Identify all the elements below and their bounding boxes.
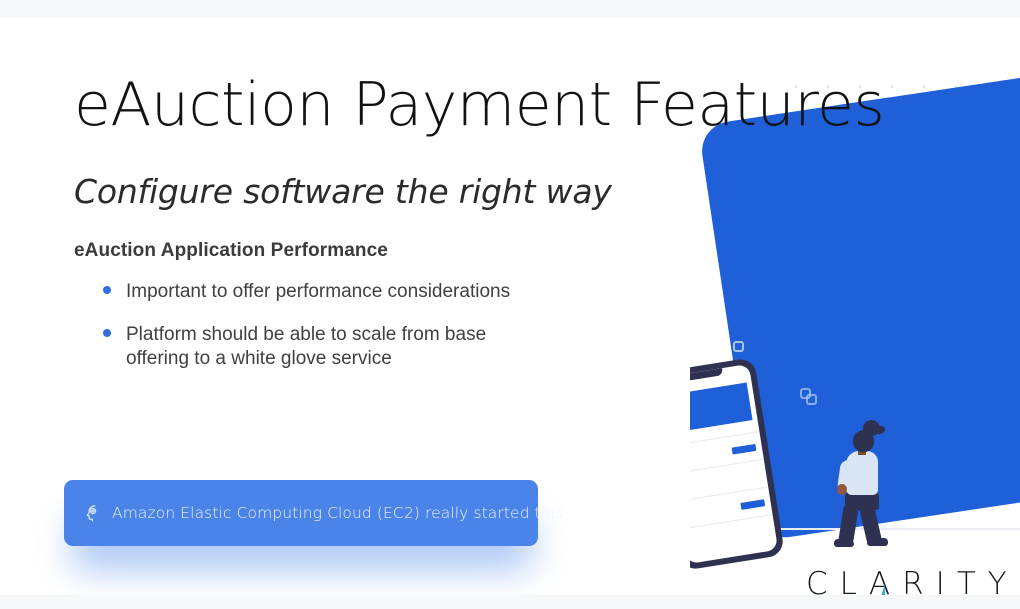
callout-text: Amazon Elastic Computing Cloud (EC2) rea…: [112, 504, 563, 522]
list-item: Important to offer performance considera…: [98, 280, 538, 304]
viewer-bottom-bar: [0, 595, 1020, 609]
list-item: Platform should be able to scale from ba…: [98, 323, 538, 371]
section-heading: eAuction Application Performance: [74, 240, 388, 262]
slide-subtitle: Configure software the right way: [74, 172, 612, 211]
list-item-text: Important to offer performance considera…: [126, 281, 510, 302]
logo-letter-a-text: A: [869, 566, 902, 595]
square-outline-icon: [733, 341, 744, 352]
bullet-dot-icon: [103, 329, 111, 337]
walking-woman-illustration: [832, 420, 902, 548]
logo-text-part2: RITY: [902, 569, 1019, 595]
slide-title: eAuction Payment Features: [74, 74, 884, 137]
screenshot-root: eAuction Payment Features Configure soft…: [0, 0, 1020, 609]
bullet-dot-icon: [103, 286, 111, 294]
logo-text-part1: CL: [806, 569, 869, 595]
slide-canvas: eAuction Payment Features Configure soft…: [0, 18, 1020, 595]
list-item-text: Platform should be able to scale from ba…: [126, 324, 486, 369]
viewer-top-bar: [0, 0, 1020, 18]
logo-accent-triangle: [880, 584, 885, 595]
logo-letter-a: A: [869, 569, 902, 595]
head-idea-icon: [82, 503, 102, 523]
callout-box: Amazon Elastic Computing Cloud (EC2) rea…: [64, 480, 538, 546]
clarity-logo: CL A RITY: [806, 569, 1019, 595]
bullet-list: Important to offer performance considera…: [98, 280, 538, 389]
